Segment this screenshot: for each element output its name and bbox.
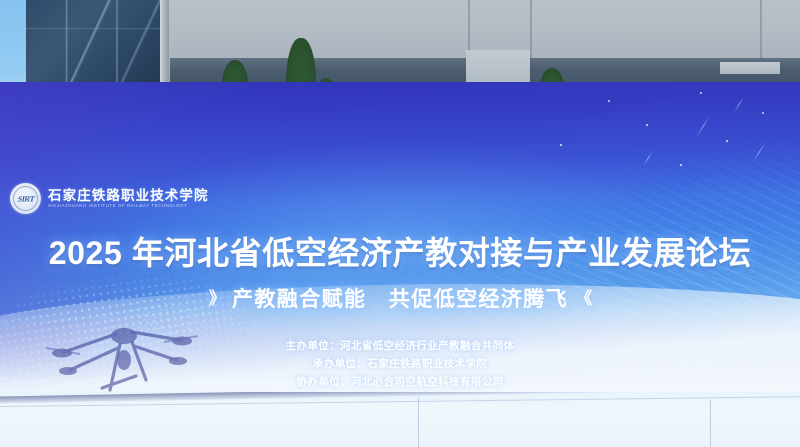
banner-main-title: 2025 年河北省低空经济产教对接与产业发展论坛 [0, 237, 800, 271]
institution-logo: SIRT 石家庄铁路职业技术学院 SHIJIAZHUANG INSTITUTE … [10, 183, 209, 214]
subtitle-text: 产教融合赋能 共促低空经济腾飞 [232, 288, 568, 311]
logo-name-en: SHIJIAZHUANG INSTITUTE OF RAILWAY TECHNO… [48, 204, 209, 208]
event-banner: SIRT 石家庄铁路职业技术学院 SHIJIAZHUANG INSTITUTE … [0, 82, 800, 395]
wall-seam-vertical [710, 400, 711, 447]
foreground-wall [0, 392, 800, 447]
organizer-list: 主办单位：河北省低空经济行业产教融合共同体 承办单位：石家庄铁路职业技术学院 协… [0, 340, 800, 389]
seal-icon: SIRT [10, 183, 41, 214]
subtitle-arrow-left-icon: 》 [209, 289, 225, 308]
logo-text: 石家庄铁路职业技术学院 SHIJIAZHUANG INSTITUTE OF RA… [48, 189, 209, 208]
screenshot-root: SIRT 石家庄铁路职业技术学院 SHIJIAZHUANG INSTITUTE … [0, 0, 800, 447]
logo-name-cn: 石家庄铁路职业技术学院 [48, 189, 209, 203]
subtitle-arrow-right-icon: 《 [575, 289, 591, 308]
organizer-coorganizer: 协办单位：河北必合司空航空科技有限公司 [296, 376, 503, 389]
organizer-host: 主办单位：河北省低空经济行业产教融合共同体 [286, 340, 515, 353]
facade-panel [720, 62, 780, 74]
wall-seam-vertical [418, 398, 419, 447]
glass-curtain-wall [26, 0, 166, 84]
banner-subtitle: 》 产教融合赋能 共促低空经济腾飞 《 [0, 288, 800, 311]
organizer-undertaker: 承办单位：石家庄铁路职业技术学院 [313, 358, 487, 371]
seal-mark-text: SIRT [16, 194, 34, 203]
facade-corner-edge [160, 0, 169, 84]
